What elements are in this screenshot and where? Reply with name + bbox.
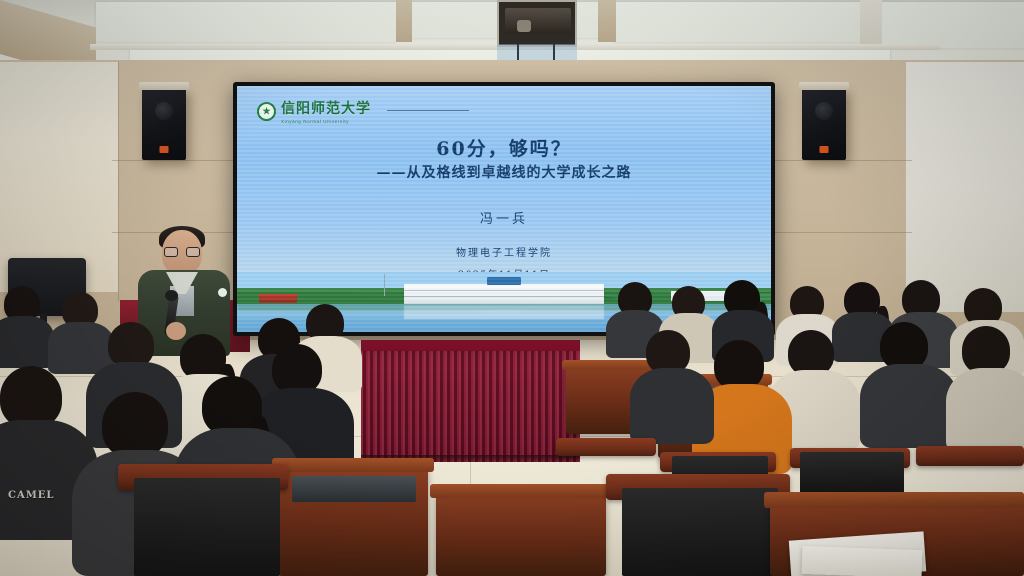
panorama-building-reflection	[404, 305, 604, 319]
lecture-hall-photo: ★ 信阳师范大学 Xinyang Normal University 60分，够…	[0, 0, 1024, 576]
seat-back	[134, 478, 280, 576]
ceiling-panel	[614, 2, 864, 42]
university-name-cn: 信阳师范大学	[281, 98, 371, 118]
speaker-brand-icon	[160, 146, 169, 153]
projector-recess	[497, 0, 577, 47]
slide-subtitle: ——从及格线到卓越线的大学成长之路	[237, 162, 771, 182]
wall-seam	[118, 62, 119, 302]
panorama-building-stripe	[404, 296, 604, 297]
desk-surface	[430, 484, 612, 498]
person-torso	[630, 368, 714, 444]
desk-papers	[802, 546, 923, 576]
university-logo: ★ 信阳师范大学 Xinyang Normal University	[257, 98, 371, 124]
ceiling-beam	[598, 0, 616, 42]
slide-department: 物理电子工程学院	[237, 244, 771, 259]
seat-back	[800, 452, 904, 494]
desk-panel	[292, 476, 416, 502]
person-torso	[946, 368, 1024, 452]
microphone-head-icon	[165, 290, 178, 301]
projector-lens-icon	[517, 20, 531, 32]
person-head	[714, 340, 764, 390]
audience-desk	[436, 492, 606, 576]
ceiling-panel	[96, 2, 396, 42]
audience-seat	[916, 446, 1024, 466]
panorama-building-tower	[487, 277, 521, 285]
person-head	[272, 344, 322, 394]
ceiling-panel	[878, 2, 1024, 48]
person-head	[880, 322, 928, 370]
person-head	[102, 392, 168, 458]
wall-speaker-right	[802, 88, 846, 160]
speaker-bracket	[799, 82, 849, 90]
speaker-bracket	[139, 82, 189, 90]
stage-curtain	[361, 340, 580, 462]
person-head	[962, 326, 1010, 374]
person-torso	[860, 364, 958, 448]
wall-seam	[905, 62, 906, 312]
projector-icon	[505, 8, 571, 34]
panorama-building-stripe	[404, 290, 604, 291]
logo-divider	[387, 110, 469, 111]
university-emblem-icon: ★	[257, 102, 276, 121]
person-head	[0, 366, 62, 428]
ceiling-beam	[396, 0, 412, 42]
slide-title: 60分，够吗？	[237, 134, 771, 161]
university-name-en: Xinyang Normal University	[281, 119, 371, 124]
panorama-red-pavilion	[259, 294, 297, 303]
person-torso	[0, 316, 54, 368]
panorama-flagpole	[384, 274, 385, 296]
ceiling-beam	[860, 0, 882, 50]
emblem-glyph: ★	[262, 107, 270, 116]
speaker-brand-icon	[820, 146, 829, 153]
presenter-hand	[166, 322, 186, 340]
wall-speaker-left	[142, 88, 186, 160]
seat-back	[622, 488, 778, 576]
desk-surface	[764, 492, 1024, 508]
curtain-valance	[361, 340, 580, 351]
speaker-driver-icon	[815, 102, 833, 120]
desk-surface	[272, 458, 434, 472]
slide-speaker-name: 冯一兵	[237, 208, 771, 227]
wall-right-panel	[905, 62, 1024, 312]
panorama-main-building	[404, 284, 604, 304]
presenter-badge	[218, 288, 227, 297]
jacket-brand-text: CAMEL	[8, 490, 54, 501]
speaker-driver-icon	[155, 102, 173, 120]
audience-seat	[556, 438, 656, 456]
glasses-icon	[164, 247, 200, 257]
